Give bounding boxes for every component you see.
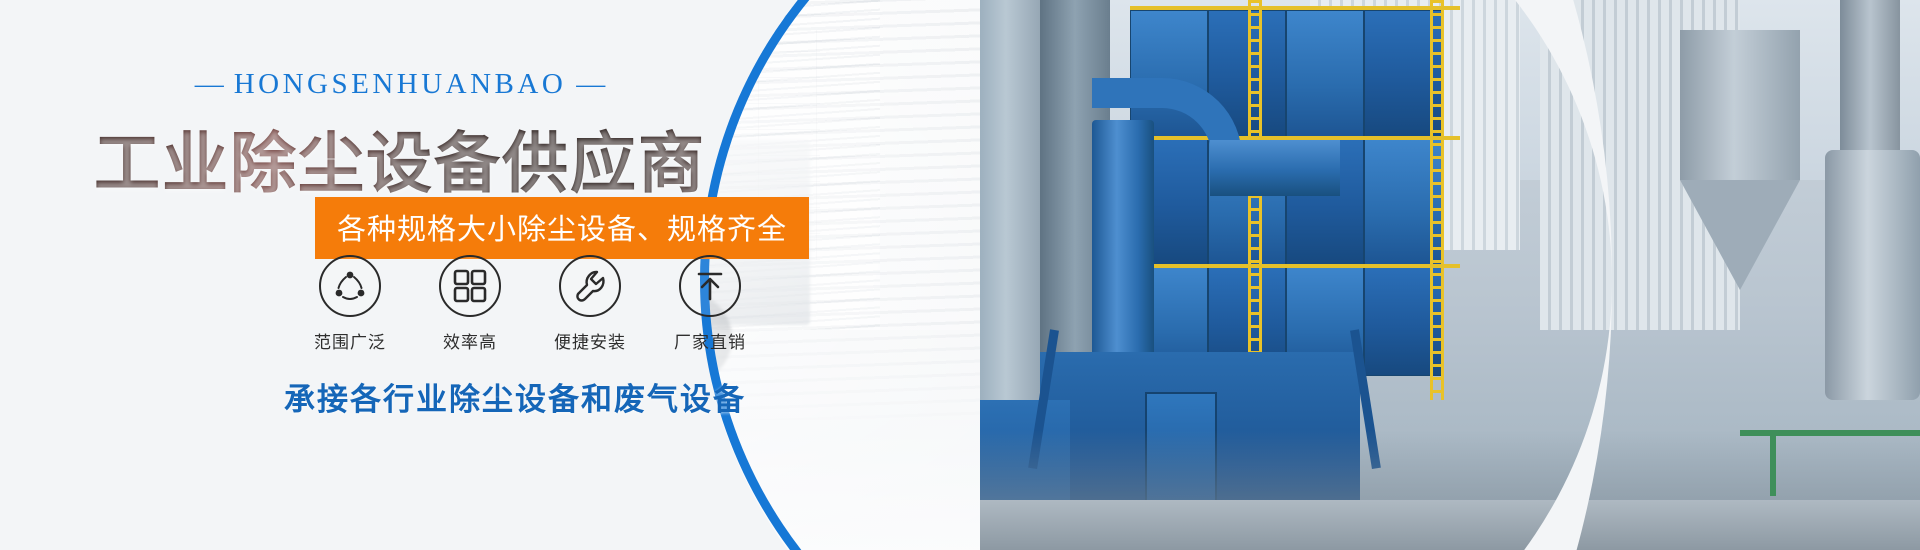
eyebrow-dash-left: — xyxy=(185,68,234,100)
subtitle-highlight-bar: 各种规格大小除尘设备、规格齐全 xyxy=(315,197,809,259)
horizontal-duct-pipe xyxy=(1210,140,1340,196)
eyebrow-dash-right: — xyxy=(566,68,615,100)
filter-module xyxy=(1286,10,1364,138)
feature-item-factory-direct[interactable]: 厂家直销 xyxy=(660,255,760,353)
upper-right-stack xyxy=(1840,0,1900,160)
access-ladder xyxy=(1248,0,1262,400)
platform-railing xyxy=(1130,264,1460,268)
baghouse-module-stack xyxy=(1130,10,1460,410)
cyclone-cone xyxy=(1680,180,1800,290)
feature-label: 范围广泛 xyxy=(300,328,400,353)
platform-railing-top xyxy=(1130,6,1460,10)
access-ladder-secondary xyxy=(1430,0,1444,400)
feature-item-wide-range[interactable]: 范围广泛 xyxy=(300,255,400,353)
four-squares-grid-icon xyxy=(439,255,501,317)
page-title: 工业除尘设备供应商 xyxy=(0,110,800,206)
hero-banner: —HONGSENHUANBAO— 工业除尘设备供应商 各种规格大小除尘设备、规格… xyxy=(0,0,1920,550)
feature-item-easy-install[interactable]: 便捷安装 xyxy=(540,255,640,353)
dust-collector-photo xyxy=(980,0,1920,550)
right-ground xyxy=(980,500,1920,550)
green-handrail xyxy=(1740,430,1920,436)
up-arrow-bar-icon xyxy=(679,255,741,317)
feature-label: 便捷安装 xyxy=(540,328,640,353)
wrench-icon xyxy=(559,255,621,317)
banner-tagline: 承接各行业除尘设备和废气设备 xyxy=(0,374,1030,419)
right-steel-pipe xyxy=(1825,150,1920,400)
banner-content: —HONGSENHUANBAO— 工业除尘设备供应商 各种规格大小除尘设备、规格… xyxy=(0,0,1000,550)
feature-list: 范围广泛 效率高 xyxy=(300,255,760,353)
network-nodes-icon xyxy=(319,255,381,317)
brand-eyebrow: —HONGSENHUANBAO— xyxy=(0,68,800,101)
green-handrail-post xyxy=(1770,436,1776,496)
feature-label: 厂家直销 xyxy=(660,328,760,353)
feature-item-high-efficiency[interactable]: 效率高 xyxy=(420,255,520,353)
cyclone-separator xyxy=(1680,30,1800,180)
feature-label: 效率高 xyxy=(420,328,520,353)
eyebrow-text: HONGSENHUANBAO xyxy=(234,68,567,100)
